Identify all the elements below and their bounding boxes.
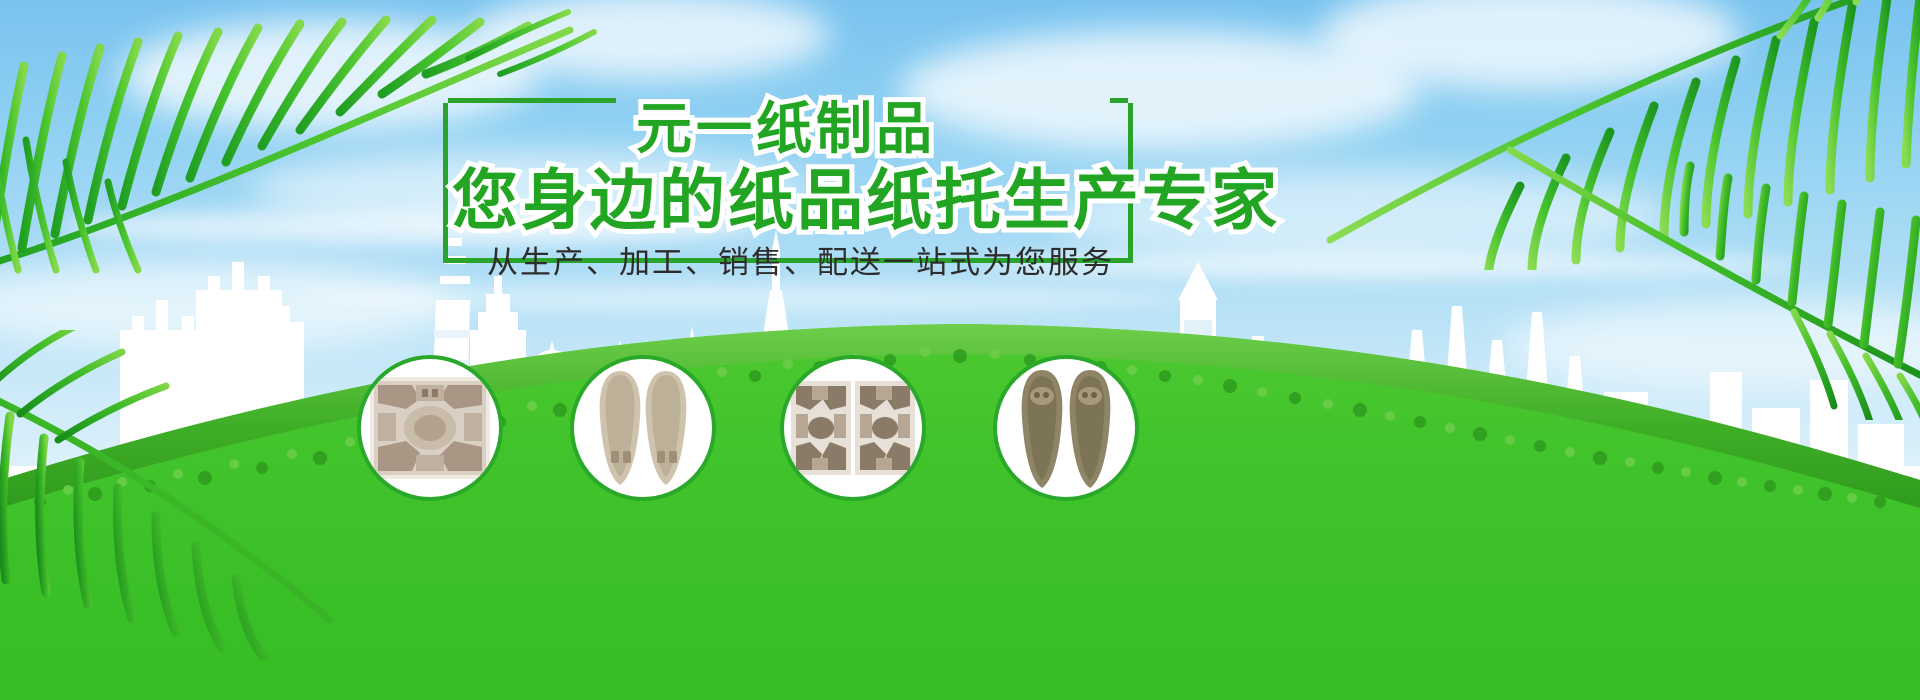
paper-pulp-shoe-tree-image — [590, 365, 696, 491]
product-circle-4[interactable] — [993, 355, 1139, 501]
palm-frond-bottom-left-icon — [0, 330, 360, 660]
palm-frond-mid-right-icon — [1480, 120, 1920, 420]
product-circle-1[interactable] — [357, 355, 503, 501]
paper-pulp-tray-square-image — [368, 375, 492, 481]
paper-pulp-tray-pair-image — [790, 380, 916, 476]
product-circle-2[interactable] — [570, 355, 716, 501]
subtitle-text: 从生产、加工、销售、配送一站式为您服务 — [487, 237, 1114, 282]
paper-pulp-shoe-form-image — [1012, 366, 1120, 490]
headline-text: 您身边的纸品纸托生产专家 — [452, 147, 1280, 243]
product-circle-3[interactable] — [780, 355, 926, 501]
promo-banner: 元一纸制品 您身边的纸品纸托生产专家 从生产、加工、销售、配送一站式为您服务 — [0, 0, 1920, 700]
